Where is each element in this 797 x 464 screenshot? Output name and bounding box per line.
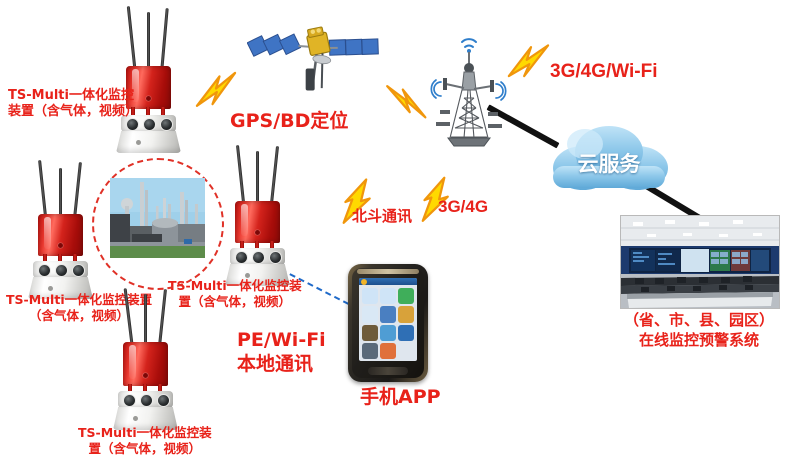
ts-multi-monitoring-device[interactable] [222,145,294,277]
camera-lens [252,251,265,264]
camera-lens [38,264,51,277]
ts-multi-monitoring-device[interactable] [112,6,184,146]
antenna [73,162,82,218]
antenna [38,160,47,216]
pe-wifi-line2: 本地通讯 [237,352,326,376]
cloud-label: 云服务 [545,148,673,178]
mobile-3g4g-label: 3G/4G [438,196,488,217]
phone-status-bar [359,278,417,285]
phone-app-grid[interactable] [362,288,414,359]
device-label-line2: 置（含气体，视频） [78,441,212,457]
communication-tower-icon [424,18,514,150]
app-icon[interactable] [398,325,414,341]
antenna [236,145,245,203]
camera-lens [157,394,170,407]
pe-wifi-label: PE/Wi-Fi 本地通讯 [237,328,326,377]
antenna [59,168,62,218]
antenna [127,6,136,68]
device-body [38,214,83,256]
device-vent [133,416,138,421]
camera-lens [143,118,156,131]
device-label-top-left: TS-Multi一体化监控 装置（含气体，视频） [8,88,138,121]
app-icon[interactable] [398,306,414,322]
app-icon[interactable] [398,288,414,304]
antenna [160,8,168,70]
control-center-line2: 在线监控预警系统 [604,330,794,350]
antenna [256,151,259,205]
camera-lens [269,251,282,264]
antenna [158,289,167,346]
antenna [144,294,147,346]
mobile-3g4g-wifi-label: 3G/4G/Wi-Fi [550,60,658,84]
industrial-plant-photo [110,178,205,258]
control-center-label: （省、市、县、园区） 在线监控预警系统 [604,310,794,351]
app-icon[interactable] [380,343,396,359]
ts-multi-monitoring-device[interactable] [110,288,182,420]
device-label-line2: 装置（含气体，视频） [8,104,138,120]
camera-lens [140,394,153,407]
app-icon[interactable] [380,325,396,341]
device-cone-base [116,131,181,153]
app-icon[interactable] [362,288,378,304]
rugged-handheld-app-icon[interactable] [348,264,428,382]
phone-screen[interactable] [359,278,417,361]
device-body [235,201,280,243]
pe-wifi-line1: PE/Wi-Fi [237,328,326,352]
app-icon [398,343,414,359]
satellite-icon [247,8,391,104]
device-label-line1: TS-Multi一体化监控 [8,88,138,104]
ts-multi-monitoring-device[interactable] [25,160,97,292]
app-icon[interactable] [362,343,378,359]
camera-lens [160,118,173,131]
device-label-line2: 置（含气体，视频） [168,294,302,310]
diagram-canvas: TS-Multi一体化监控 装置（含气体，视频） TS-Multi一体化监控装置… [0,0,797,464]
device-vent [48,286,53,291]
gps-bd-label: GPS/BD定位 [230,110,348,134]
antenna [270,146,279,204]
antenna [124,288,134,344]
camera-lens [72,264,85,277]
device-body [123,342,168,386]
app-icon[interactable] [380,306,396,322]
beidou-label: 北斗通讯 [352,207,412,226]
camera-lens [235,251,248,264]
control-room-photo [620,215,780,309]
cloud-service-node[interactable]: 云服务 [545,118,673,198]
app-icon[interactable] [380,288,396,304]
control-center-line1: （省、市、县、园区） [604,310,794,330]
device-label-bottom: TS-Multi一体化监控装 置（含气体，视频） [78,425,212,456]
phone-app-label: 手机APP [360,386,441,410]
device-label-line1: TS-Multi一体化监控装 [78,425,212,441]
app-icon[interactable] [362,306,378,322]
camera-lens [55,264,68,277]
antenna [147,12,150,70]
app-icon[interactable] [362,325,378,341]
device-vent [136,140,141,145]
camera-lens [123,394,136,407]
